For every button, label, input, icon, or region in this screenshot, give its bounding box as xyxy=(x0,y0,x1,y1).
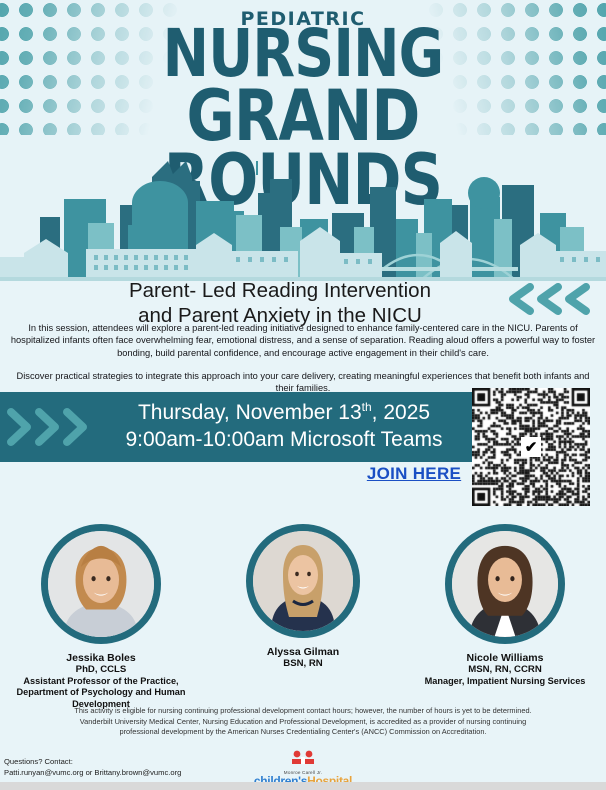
speaker-credentials: MSN, RN, CCRN xyxy=(410,664,600,676)
event-date-prefix: Thursday, November 13 xyxy=(138,401,362,424)
chevron-right-triple-icon xyxy=(6,406,92,448)
speaker-credentials: BSN, RN xyxy=(208,658,398,670)
event-date-ordinal: th xyxy=(362,400,372,414)
accreditation-statement: This activity is eligible for nursing co… xyxy=(68,706,538,738)
speaker-card: Alyssa Gilman BSN, RN xyxy=(208,524,398,670)
speaker-photo xyxy=(246,524,360,638)
event-date-suffix: , 2025 xyxy=(372,401,430,424)
event-banner-text: Thursday, November 13th, 2025 9:00am-10:… xyxy=(96,392,472,462)
speaker-name: Nicole Williams xyxy=(410,652,600,664)
contact-label: Questions? Contact: xyxy=(4,756,304,767)
session-description: In this session, attendees will explore … xyxy=(8,322,598,394)
contact-block: Questions? Contact: Patti.runyan@vumc.or… xyxy=(4,756,304,779)
speaker-credentials: PhD, CCLS xyxy=(6,664,196,676)
speaker-photo xyxy=(445,524,565,644)
nashville-skyline-illustration xyxy=(0,141,606,281)
event-date: Thursday, November 13th, 2025 xyxy=(138,400,430,427)
chevron-left-triple-icon xyxy=(500,282,600,316)
speaker-name: Jessika Boles xyxy=(6,652,196,664)
speaker-name: Alyssa Gilman xyxy=(208,646,398,658)
footer-bar xyxy=(0,782,606,790)
qr-check-logo-icon: ✔ xyxy=(521,437,541,457)
speaker-photo xyxy=(41,524,161,644)
flyer-page: PEDIATRIC NURSING GRAND ROUNDS xyxy=(0,0,606,790)
speakers-section: Jessika Boles PhD, CCLS Assistant Profes… xyxy=(0,524,606,704)
qr-code[interactable]: ✔ xyxy=(472,388,590,506)
description-paragraph-1: In this session, attendees will explore … xyxy=(8,322,598,359)
contact-emails[interactable]: Patti.runyan@vumc.org or Brittany.brown@… xyxy=(4,767,304,778)
speaker-card: Nicole Williams MSN, RN, CCRN Manager, I… xyxy=(410,524,600,687)
join-here-link[interactable]: JOIN HERE xyxy=(360,464,468,484)
speaker-card: Jessika Boles PhD, CCLS Assistant Profes… xyxy=(6,524,196,710)
speaker-role: Manager, Impatient Nursing Services xyxy=(410,676,600,688)
session-title-line-1: Parent- Led Reading Intervention xyxy=(40,278,520,303)
header-section: PEDIATRIC NURSING GRAND ROUNDS xyxy=(0,0,606,281)
event-time-platform: 9:00am-10:00am Microsoft Teams xyxy=(125,427,442,454)
